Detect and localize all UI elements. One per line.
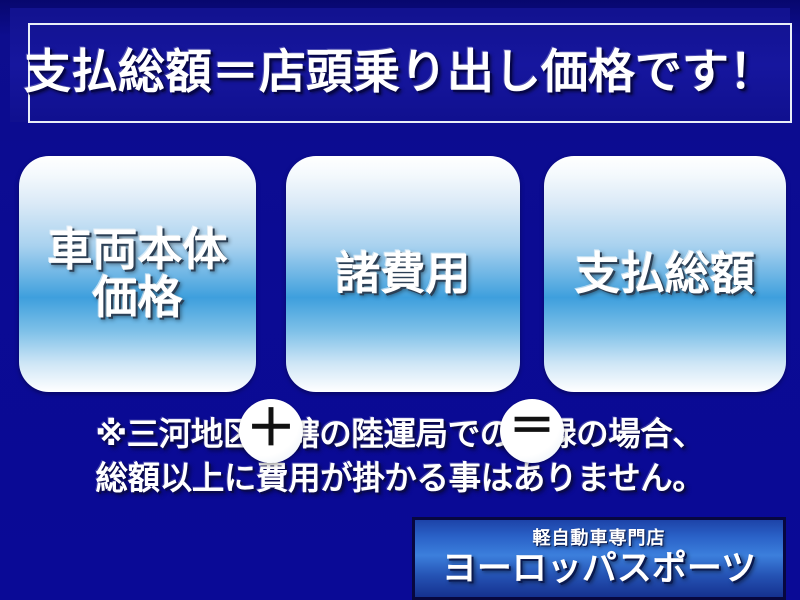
equation-row: 車両本体 価格 ＋ 諸費用 ＝ 支払総額	[0, 156, 800, 392]
shop-name: ヨーロッパスポーツ	[442, 551, 756, 588]
header-title: 支払総額＝店頭乗り出し価格です！	[24, 33, 776, 102]
plus-operator-icon: ＋	[239, 399, 303, 463]
footnote-text: ※三河地区管轄の陸運局での登録の場合、 総額以上に費用が掛かる事はありません。	[0, 412, 800, 500]
shop-logo-banner: 軽自動車専門店 ヨーロッパスポーツ	[412, 517, 786, 600]
shop-subtitle: 軽自動車専門店	[533, 530, 666, 548]
card-vehicle-body-price: 車両本体 価格	[19, 156, 256, 392]
pricing-infographic: 支払総額＝店頭乗り出し価格です！ 車両本体 価格 ＋ 諸費用 ＝ 支払総額 ※三…	[0, 0, 800, 600]
equals-operator-icon: ＝	[500, 399, 564, 463]
card-label-total-payment: 支払総額	[569, 250, 761, 298]
equals-glyph: ＝	[509, 403, 555, 449]
header-banner: 支払総額＝店頭乗り出し価格です！	[10, 8, 790, 122]
card-misc-fees: 諸費用	[286, 156, 520, 392]
card-label-vehicle-body-price: 車両本体 価格	[41, 226, 233, 322]
plus-glyph: ＋	[246, 403, 296, 453]
card-label-misc-fees: 諸費用	[329, 250, 476, 298]
card-total-payment: 支払総額	[544, 156, 786, 392]
